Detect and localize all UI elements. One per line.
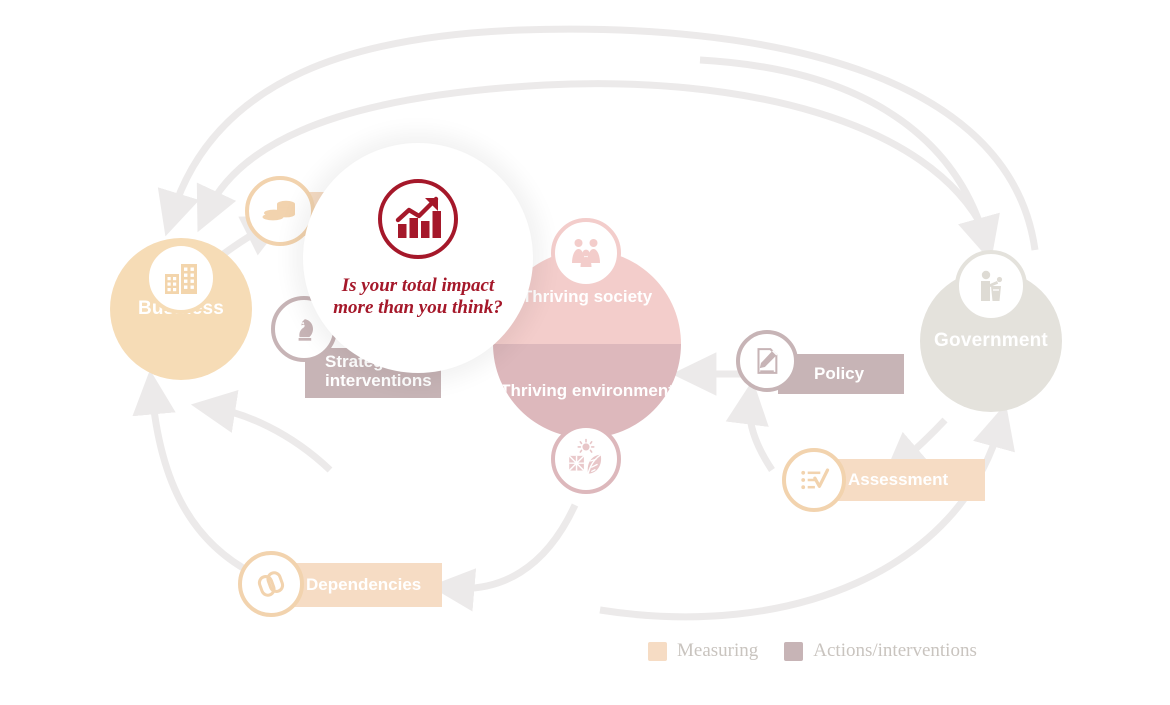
legend-item-actions: Actions/interventions — [784, 640, 977, 662]
pill-dependencies-label: Dependencies — [306, 575, 421, 594]
document-pen-icon — [736, 330, 798, 392]
node-thriving-society-label: Thriving society — [522, 287, 652, 307]
legend-label-actions: Actions/interventions — [813, 640, 977, 662]
podium-speaker-icon — [955, 250, 1027, 322]
legend-swatch-actions — [784, 642, 803, 661]
arrow-assessment-to-policy — [750, 402, 772, 470]
arrow-top-to-government — [700, 60, 985, 240]
center-question-text: Is your total impact more than you think… — [333, 275, 503, 320]
legend-swatch-measuring — [648, 642, 667, 661]
checklist-check-icon — [782, 448, 846, 512]
arrow-arc-into-business — [213, 408, 330, 470]
chain-link-icon — [238, 551, 304, 617]
node-government-label: Government — [928, 330, 1054, 351]
node-thriving-environment-label: Thriving environment — [500, 381, 674, 401]
sun-leaves-environment-icon — [551, 424, 621, 494]
legend: Measuring Actions/interventions — [648, 640, 977, 662]
arrow-government-to-assessment — [900, 420, 945, 463]
office-buildings-icon — [145, 242, 217, 314]
arrow-environment-to-dependencies — [452, 505, 575, 588]
pill-assessment-label: Assessment — [848, 470, 948, 489]
growth-bar-chart-arrow-icon — [376, 177, 460, 261]
pill-policy-label: Policy — [814, 364, 864, 383]
legend-label-measuring: Measuring — [677, 640, 758, 662]
family-people-icon — [551, 218, 621, 288]
legend-item-measuring: Measuring — [648, 640, 758, 662]
impact-cycle-diagram: Business Profit — [0, 0, 1170, 705]
center-highlight-bubble: Is your total impact more than you think… — [303, 143, 533, 373]
